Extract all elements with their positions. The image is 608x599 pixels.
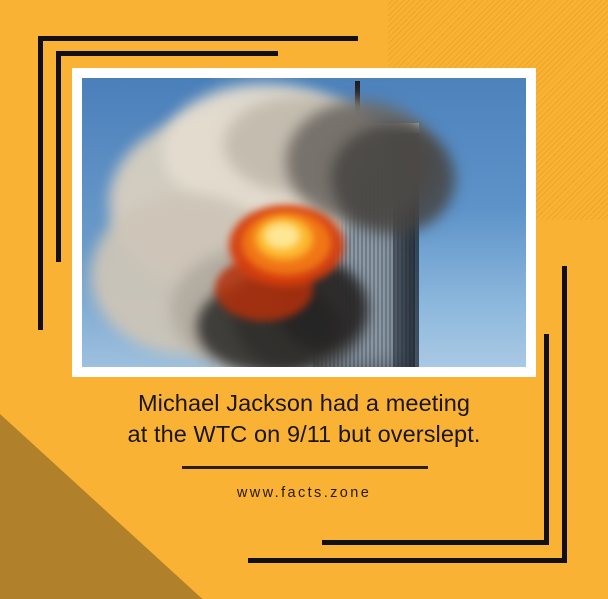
top-left-outer-bracket-horizontal	[38, 36, 358, 41]
top-left-outer-bracket-vertical	[38, 36, 43, 330]
caption-line-1: Michael Jackson had a meeting	[0, 388, 608, 419]
caption-divider	[182, 466, 428, 469]
fireball-core	[264, 223, 300, 249]
caption-line-2: at the WTC on 9/11 but overslept.	[0, 419, 608, 450]
wtc-explosion-photo	[82, 78, 526, 367]
top-left-inner-bracket-horizontal	[56, 51, 278, 56]
photo-white-mat	[72, 68, 536, 377]
website-url: www.facts.zone	[0, 485, 608, 501]
social-fact-card: Michael Jackson had a meeting at the WTC…	[0, 0, 608, 599]
bottom-right-inner-bracket-horizontal	[322, 540, 549, 545]
bottom-right-outer-bracket-horizontal	[248, 558, 567, 563]
fact-caption: Michael Jackson had a meeting at the WTC…	[0, 388, 608, 450]
top-left-inner-bracket-vertical	[56, 51, 61, 262]
smoke-plume-dark	[331, 124, 455, 234]
